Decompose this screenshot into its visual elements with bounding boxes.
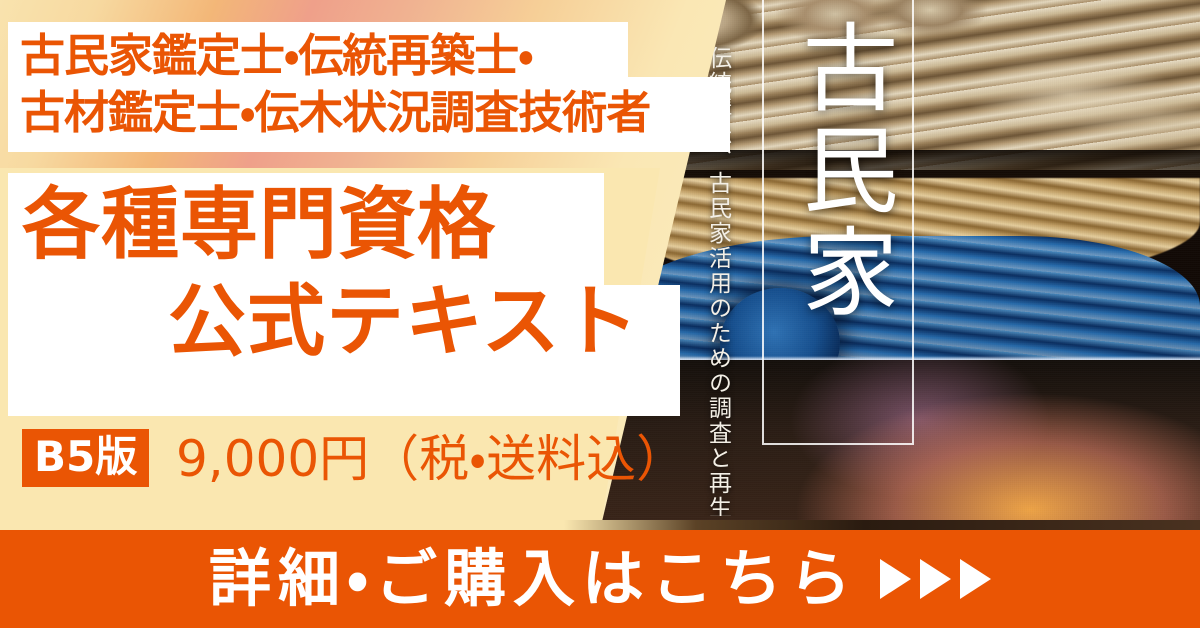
- format-badge: B5版: [22, 429, 149, 487]
- cta-arrows: [880, 559, 991, 599]
- main-title-line-1: 各種専門資格: [22, 186, 496, 264]
- cta-bar[interactable]: 詳細・ご購入はこちら: [0, 530, 1200, 628]
- main-title-line-2: 公式テキスト: [168, 283, 640, 361]
- headline-line-1: 古民家鑑定士・伝統再築士・: [20, 26, 720, 85]
- play-triangle-icon: [880, 559, 911, 599]
- play-triangle-icon: [920, 559, 951, 599]
- play-triangle-icon: [960, 559, 991, 599]
- price-text: 9,000円（税・送料込）: [176, 432, 686, 487]
- cta-label[interactable]: 詳細・ご購入はこちら: [209, 548, 858, 610]
- headline-line-2: 古材鑑定士・伝木状況調査技術者: [20, 83, 720, 142]
- qualification-headline: 古民家鑑定士・伝統再築士・ 古材鑑定士・伝木状況調査技術者: [20, 26, 720, 143]
- promo-banner: 古民家 伝統構法、古民家活用のための調査と再生の 古民家鑑定士・伝統再築士・ 古…: [0, 0, 1200, 628]
- cover-title: 古民家: [772, 18, 900, 324]
